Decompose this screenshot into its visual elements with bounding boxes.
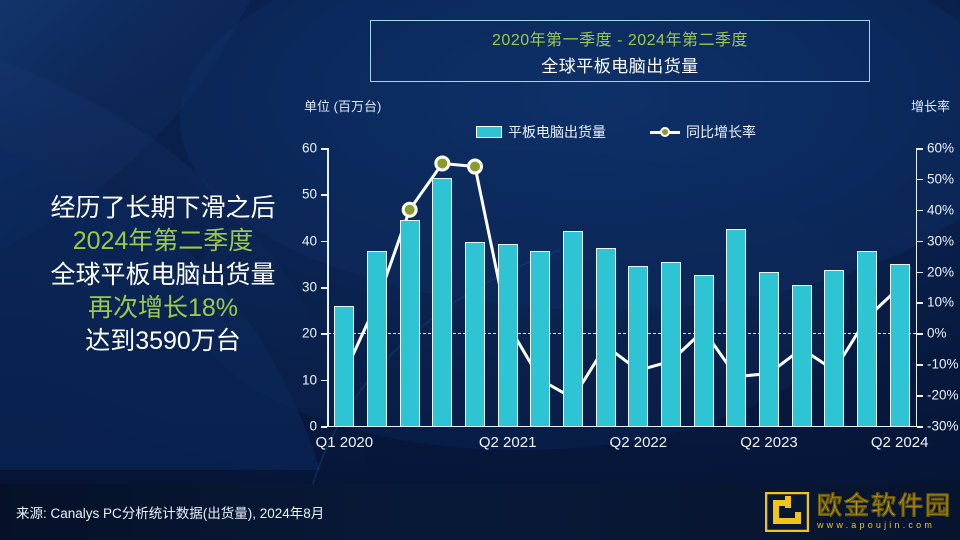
bar-q2-2024: [890, 264, 910, 426]
y-tick-right: [917, 179, 923, 181]
y-tick-left: [321, 333, 327, 335]
headline-line-5: 达到3590万台: [18, 325, 308, 358]
bar-q2-2022: [628, 266, 648, 426]
x-ticklabel-q2-2022: Q2 2022: [610, 434, 668, 451]
x-ticklabel-q2-2024: Q2 2024: [871, 434, 929, 451]
legend-label-bars: 平板电脑出货量: [508, 122, 606, 142]
bar-q1-2024: [857, 251, 877, 426]
growth-line-path: [344, 163, 899, 398]
y-tick-right: [917, 364, 923, 366]
headline-line-3: 全球平板电脑出货量: [18, 259, 308, 292]
bar-q3-2021: [530, 251, 550, 426]
bar-q3-2023: [792, 285, 812, 426]
bar-q2-2021: [498, 244, 518, 426]
y-tick-right: [917, 210, 923, 212]
y-ticklabel-right: 50%: [927, 171, 954, 186]
growth-marker-q4-2020: [436, 157, 449, 170]
plot-region: 0102030405060-30%-20%-10%0%10%20%30%40%5…: [328, 148, 916, 426]
legend-item-bars: 平板电脑出货量: [476, 122, 606, 142]
title-subject: 全球平板电脑出货量: [541, 52, 699, 77]
watermark: 欧金软件园 www.apoujin.com: [765, 488, 952, 536]
y-ticklabel-right: 20%: [927, 264, 954, 279]
y-ticklabel-right: -10%: [927, 357, 959, 372]
y-tick-right: [917, 148, 923, 150]
y-ticklabel-right: 10%: [927, 295, 954, 310]
y-ticklabel-right: 30%: [927, 233, 954, 248]
apoujin-logo-icon: [765, 492, 809, 532]
y-tick-left: [321, 287, 327, 289]
growth-marker-q3-2020: [403, 203, 416, 216]
y-tick-right: [917, 426, 923, 428]
bar-q1-2023: [726, 229, 746, 426]
bar-q3-2022: [661, 262, 681, 426]
bar-q4-2022: [694, 275, 714, 426]
title-period: 2020年第一季度 - 2024年第二季度: [492, 26, 748, 50]
y-ticklabel-left: 50: [302, 187, 317, 202]
y-ticklabel-right: -30%: [927, 419, 959, 434]
y-tick-right: [917, 272, 923, 274]
y-ticklabel-right: -20%: [927, 388, 959, 403]
bar-q4-2023: [824, 270, 844, 426]
y-ticklabel-left: 40: [302, 233, 317, 248]
slide-canvas: 2020年第一季度 - 2024年第二季度 全球平板电脑出货量 经历了长期下滑之…: [0, 0, 960, 540]
y-ticklabel-right: 0%: [927, 326, 947, 341]
chart-area: 单位 (百万台) 增长率 平板电脑出货量 同比增长率 0102030405060…: [296, 96, 956, 466]
legend-item-line: 同比增长率: [650, 122, 756, 142]
y-tick-left: [321, 241, 327, 243]
y-tick-left: [321, 380, 327, 382]
legend-label-line: 同比增长率: [686, 122, 756, 142]
y-tick-right: [917, 302, 923, 304]
bar-q4-2021: [563, 231, 583, 426]
bar-swatch-icon: [476, 126, 502, 138]
y-ticklabel-left: 60: [302, 141, 317, 156]
watermark-url: www.apoujin.com: [817, 520, 935, 530]
y-tick-right: [917, 241, 923, 243]
source-note: 来源: Canalys PC分析统计数据(出货量), 2024年8月: [16, 502, 324, 522]
y-tick-left: [321, 426, 327, 428]
y2-axis-label: 增长率: [911, 96, 950, 115]
x-ticklabel-q2-2021: Q2 2021: [479, 434, 537, 451]
headline-line-2: 2024年第二季度: [18, 225, 308, 258]
headline-block: 经历了长期下滑之后2024年第二季度全球平板电脑出货量再次增长18%达到3590…: [18, 192, 308, 358]
y-tick-left: [321, 148, 327, 150]
chart-legend: 平板电脑出货量 同比增长率: [476, 122, 756, 142]
y-ticklabel-left: 30: [302, 280, 317, 295]
y-tick-right: [917, 333, 923, 335]
bar-q4-2020: [432, 178, 452, 426]
y-ticklabel-right: 40%: [927, 202, 954, 217]
growth-marker-q1-2021: [469, 160, 482, 173]
headline-line-1: 经历了长期下滑之后: [18, 192, 308, 225]
bar-q1-2020: [334, 306, 354, 426]
bar-q2-2023: [759, 272, 779, 426]
y-tick-right: [917, 395, 923, 397]
x-ticklabel-q2-2023: Q2 2023: [740, 434, 798, 451]
watermark-name: 欧金软件园: [817, 494, 952, 519]
line-marker-icon: [650, 126, 680, 138]
bar-q1-2021: [465, 242, 485, 426]
y-tick-left: [321, 194, 327, 196]
y-ticklabel-left: 10: [302, 372, 317, 387]
y-axis-unit-label: 单位 (百万台): [304, 96, 381, 115]
bar-q3-2020: [400, 220, 420, 426]
bar-q1-2022: [596, 248, 616, 426]
x-axis-labels: Q1 2020Q2 2021Q2 2022Q2 2023Q2 2024: [328, 434, 916, 458]
bar-q2-2020: [367, 251, 387, 426]
chart-title-box: 2020年第一季度 - 2024年第二季度 全球平板电脑出货量: [370, 20, 870, 82]
y-ticklabel-left: 0: [309, 419, 317, 434]
headline-line-4: 再次增长18%: [18, 292, 308, 325]
y-ticklabel-left: 20: [302, 326, 317, 341]
y-ticklabel-right: 60%: [927, 141, 954, 156]
x-ticklabel-q1-2020: Q1 2020: [316, 434, 374, 451]
